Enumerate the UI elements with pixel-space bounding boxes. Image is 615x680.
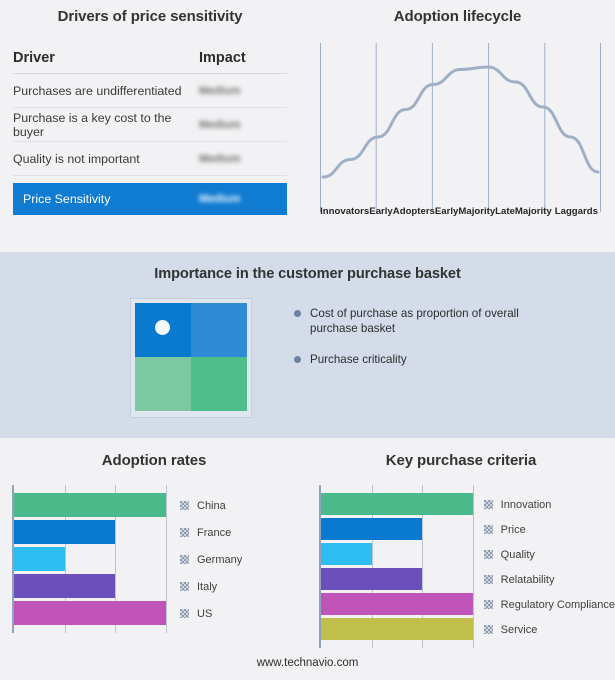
legend-label: Italy: [197, 581, 217, 593]
legend-label: Service: [501, 624, 538, 636]
drivers-table-header: Driver Impact: [13, 50, 287, 74]
legend-swatch-icon: [180, 582, 189, 591]
legend-item[interactable]: Innovation: [484, 492, 615, 517]
lifecycle-stage-label-word: Laggards: [555, 206, 598, 218]
cell-driver: Quality is not important: [13, 152, 199, 166]
bar-group: [14, 493, 164, 625]
legend-label: Regulatory Compliance: [501, 599, 615, 611]
legend-swatch-icon: [484, 550, 493, 559]
legend-item: Cost of purchase as proportion of overal…: [294, 306, 525, 336]
adoption-rates-chart: ChinaFranceGermanyItalyUS: [0, 485, 308, 633]
lifecycle-stage-label: EarlyAdopters: [369, 178, 435, 218]
adoption-lifecycle-panel: Adoption lifecycle InnovatorsEarlyAdopte…: [300, 0, 615, 250]
legend-swatch-icon: [484, 625, 493, 634]
bar-group: [321, 493, 468, 640]
adoption-rates-title: Adoption rates: [0, 452, 308, 469]
bar[interactable]: [321, 518, 422, 540]
lifecycle-stage-label: Innovators: [320, 178, 369, 218]
legend-label: China: [197, 500, 226, 512]
adoption-rates-panel: Adoption rates ChinaFranceGermanyItalyUS: [0, 438, 308, 680]
legend-label: Relatability: [501, 574, 555, 586]
legend-label: France: [197, 527, 231, 539]
bar[interactable]: [321, 593, 473, 615]
footer-url: www.technavio.com: [0, 657, 615, 669]
key-purchase-criteria-legend: InnovationPriceQualityRelatabilityRegula…: [484, 485, 615, 648]
legend-item[interactable]: Relatability: [484, 567, 615, 592]
cell-impact: Medium: [199, 85, 279, 97]
legend-item[interactable]: Price: [484, 517, 615, 542]
adoption-rates-plot: [12, 485, 164, 633]
adoption-curve: [323, 67, 598, 177]
legend-label: Quality: [501, 549, 535, 561]
gridline: [473, 485, 474, 648]
bar[interactable]: [321, 568, 422, 590]
legend-label: Germany: [197, 554, 242, 566]
legend-label: Innovation: [501, 499, 552, 511]
legend-label: US: [197, 608, 212, 620]
legend-swatch-icon: [180, 501, 189, 510]
legend-swatch-icon: [484, 500, 493, 509]
legend-swatch-icon: [484, 600, 493, 609]
lifecycle-stage-label-word: Early: [369, 206, 392, 218]
lifecycle-stage-label-word: Majority: [515, 206, 552, 218]
drivers-title: Drivers of price sensitivity: [0, 8, 300, 25]
bar[interactable]: [321, 493, 473, 515]
purchase-basket-title: Importance in the customer purchase bask…: [0, 252, 615, 282]
position-marker-icon: [155, 320, 170, 335]
bar[interactable]: [14, 493, 166, 517]
lifecycle-stage-label-word: Early: [435, 206, 458, 218]
legend-item[interactable]: China: [180, 492, 242, 519]
legend-swatch-icon: [484, 575, 493, 584]
legend-swatch-icon: [180, 528, 189, 537]
legend-bullet-icon: [294, 310, 301, 317]
key-purchase-criteria-plot: [319, 485, 468, 648]
quadrant-bottom-right[interactable]: [191, 357, 247, 411]
purchase-basket-legend: Cost of purchase as proportion of overal…: [294, 298, 525, 418]
legend-item: Purchase criticality: [294, 352, 525, 367]
drivers-table: Driver Impact Purchases are undifferenti…: [13, 50, 287, 215]
legend-item[interactable]: Germany: [180, 546, 242, 573]
key-purchase-criteria-chart: InnovationPriceQualityRelatabilityRegula…: [307, 485, 615, 648]
column-header-impact: Impact: [199, 50, 279, 66]
purchase-basket-panel: Importance in the customer purchase bask…: [0, 252, 615, 438]
legend-label: Cost of purchase as proportion of overal…: [310, 306, 525, 336]
quadrant-matrix: [135, 303, 247, 411]
legend-label: Price: [501, 524, 526, 536]
quadrant-top-right[interactable]: [191, 303, 247, 357]
table-row[interactable]: Quality is not important Medium: [13, 142, 287, 176]
purchase-basket-body: Cost of purchase as proportion of overal…: [0, 298, 615, 418]
legend-bullet-icon: [294, 356, 301, 363]
infographic-page: Drivers of price sensitivity Driver Impa…: [0, 0, 615, 680]
table-row[interactable]: Purchase is a key cost to the buyer Medi…: [13, 108, 287, 142]
lifecycle-stage-label-word: Adopters: [393, 206, 435, 218]
legend-swatch-icon: [484, 525, 493, 534]
lifecycle-stage-label: Laggards: [552, 178, 601, 218]
legend-swatch-icon: [180, 609, 189, 618]
lifecycle-stage-label: LateMajority: [495, 178, 552, 218]
bar[interactable]: [321, 543, 372, 565]
lifecycle-stage-label-word: Innovators: [320, 206, 369, 218]
legend-swatch-icon: [180, 555, 189, 564]
adoption-lifecycle-title: Adoption lifecycle: [300, 8, 615, 25]
lifecycle-stage-label-word: Majority: [458, 206, 495, 218]
bar[interactable]: [321, 618, 473, 640]
key-purchase-criteria-title: Key purchase criteria: [307, 452, 615, 469]
cell-impact: Medium: [199, 119, 279, 131]
legend-label: Purchase criticality: [310, 352, 407, 367]
lifecycle-stage-label: EarlyMajority: [435, 178, 495, 218]
legend-item[interactable]: Italy: [180, 573, 242, 600]
column-header-driver: Driver: [13, 50, 199, 66]
bar[interactable]: [14, 574, 115, 598]
cell-driver: Purchases are undifferentiated: [13, 84, 199, 98]
gridline: [166, 485, 167, 633]
adoption-lifecycle-chart: InnovatorsEarlyAdoptersEarlyMajorityLate…: [320, 43, 601, 218]
table-row[interactable]: Purchases are undifferentiated Medium: [13, 74, 287, 108]
table-row-highlighted[interactable]: Price Sensitivity Medium: [13, 183, 287, 215]
legend-item[interactable]: Quality: [484, 542, 615, 567]
legend-item[interactable]: France: [180, 519, 242, 546]
cell-driver: Purchase is a key cost to the buyer: [13, 111, 199, 139]
legend-item[interactable]: Regulatory Compliance: [484, 592, 615, 617]
cell-driver: Price Sensitivity: [23, 192, 199, 206]
adoption-rates-legend: ChinaFranceGermanyItalyUS: [180, 485, 242, 633]
legend-item[interactable]: Service: [484, 617, 615, 642]
lifecycle-stage-label-word: Late: [495, 206, 515, 218]
quadrant-bottom-left[interactable]: [135, 357, 191, 411]
bar[interactable]: [14, 601, 166, 625]
bar[interactable]: [14, 520, 115, 544]
cell-impact: Medium: [199, 193, 279, 205]
cell-impact: Medium: [199, 153, 279, 165]
drivers-panel: Drivers of price sensitivity Driver Impa…: [0, 0, 300, 250]
key-purchase-criteria-panel: Key purchase criteria InnovationPriceQua…: [307, 438, 615, 680]
lifecycle-stage-labels: InnovatorsEarlyAdoptersEarlyMajorityLate…: [320, 178, 601, 218]
legend-item[interactable]: US: [180, 600, 242, 627]
bar[interactable]: [14, 547, 65, 571]
quadrant-frame: [130, 298, 252, 418]
